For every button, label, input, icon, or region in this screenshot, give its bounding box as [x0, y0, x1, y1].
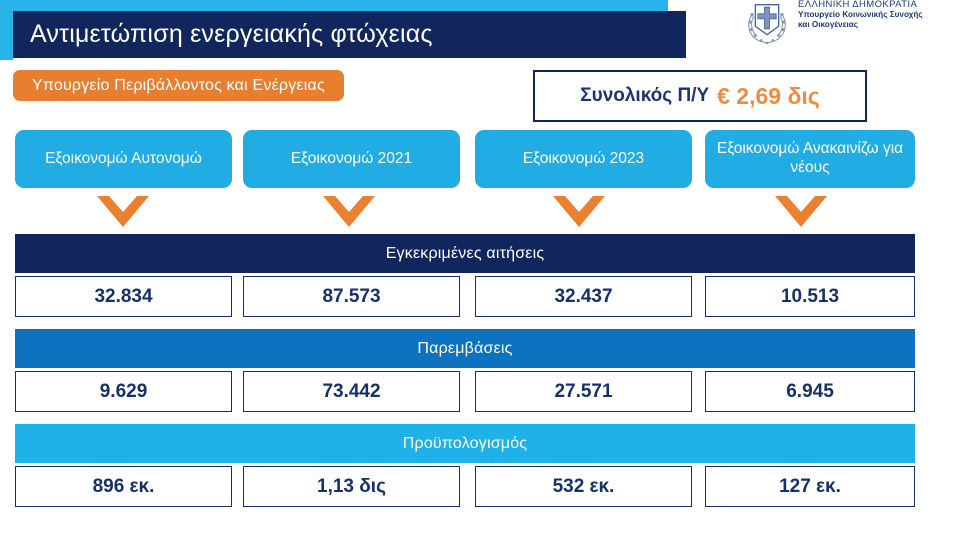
section-budget: Προϋπολογισμός 896 εκ. 1,13 δις 532 εκ. …	[15, 424, 915, 507]
value-text: 87.573	[322, 286, 380, 308]
chevron-down-icon	[97, 196, 149, 227]
section-values-row: 9.629 73.442 27.571 6.945	[15, 371, 915, 412]
section-values-row: 32.834 87.573 32.437 10.513	[15, 276, 915, 317]
section-header-bar: Προϋπολογισμός	[15, 424, 915, 463]
greek-coat-of-arms-icon	[742, 0, 792, 48]
value-text: 9.629	[100, 381, 148, 403]
section-header-label: Εγκεκριμένες αιτήσεις	[386, 245, 545, 263]
program-box-1[interactable]: Εξοικονομώ 2021	[243, 130, 460, 188]
value-cell: 32.437	[475, 276, 692, 317]
section-header-bar: Παρεμβάσεις	[15, 329, 915, 368]
value-cell: 32.834	[15, 276, 232, 317]
program-box-2[interactable]: Εξοικονομώ 2023	[475, 130, 692, 188]
section-values-row: 896 εκ. 1,13 δις 532 εκ. 127 εκ.	[15, 466, 915, 507]
chevron-down-icon	[775, 196, 827, 227]
value-cell: 532 εκ.	[475, 466, 692, 507]
value-cell: 27.571	[475, 371, 692, 412]
section-interventions: Παρεμβάσεις 9.629 73.442 27.571 6.945	[15, 329, 915, 412]
value-cell: 87.573	[243, 276, 460, 317]
chevron-down-icon	[323, 196, 375, 227]
value-text: 27.571	[554, 381, 612, 403]
logo-ministry-line-1: Υπουργείο Κοινωνικής Συνοχής	[798, 10, 923, 20]
program-box-3[interactable]: Εξοικονομώ Ανακαινίζω για νέους	[705, 130, 915, 188]
value-text: 32.437	[554, 286, 612, 308]
value-text: 896 εκ.	[93, 476, 155, 498]
left-cyan-band	[0, 0, 13, 60]
section-header-label: Παρεμβάσεις	[417, 340, 512, 358]
value-text: 1,13 δις	[317, 476, 386, 498]
value-cell: 10.513	[705, 276, 915, 317]
value-text: 532 εκ.	[553, 476, 615, 498]
value-text: 73.442	[322, 381, 380, 403]
program-label-3: Εξοικονομώ Ανακαινίζω για νέους	[705, 140, 915, 178]
program-box-0[interactable]: Εξοικονομώ Αυτονομώ	[15, 130, 232, 188]
title-bar: Αντιμετώπιση ενεργειακής φτώχειας	[13, 11, 686, 58]
value-cell: 6.945	[705, 371, 915, 412]
program-label-0: Εξοικονομώ Αυτονομώ	[37, 150, 210, 169]
value-cell: 9.629	[15, 371, 232, 412]
page-title: Αντιμετώπιση ενεργειακής φτώχειας	[13, 20, 433, 49]
value-cell: 896 εκ.	[15, 466, 232, 507]
ministry-badge-label: Υπουργείο Περιβάλλοντος και Ενέργειας	[32, 77, 325, 95]
program-label-2: Εξοικονομώ 2023	[515, 150, 652, 169]
program-label-1: Εξοικονομώ 2021	[283, 150, 420, 169]
value-cell: 1,13 δις	[243, 466, 460, 507]
value-text: 10.513	[781, 286, 839, 308]
total-budget-value: € 2,69 δις	[709, 83, 820, 110]
section-header-label: Προϋπολογισμός	[403, 435, 527, 453]
ministry-badge: Υπουργείο Περιβάλλοντος και Ενέργειας	[13, 70, 344, 101]
total-budget-label: Συνολικός Π/Υ	[580, 85, 709, 107]
value-cell: 73.442	[243, 371, 460, 412]
ministry-logo: ΕΛΛΗΝΙΚΗ ΔΗΜΟΚΡΑΤΙΑ Υπουργείο Κοινωνικής…	[742, 0, 956, 50]
section-approved-applications: Εγκεκριμένες αιτήσεις 32.834 87.573 32.4…	[15, 234, 915, 317]
program-boxes-row: Εξοικονομώ Αυτονομώ Εξοικονομώ 2021 Εξοι…	[15, 130, 915, 188]
value-text: 32.834	[94, 286, 152, 308]
chevron-down-icon	[553, 196, 605, 227]
logo-country-line: ΕΛΛΗΝΙΚΗ ΔΗΜΟΚΡΑΤΙΑ	[798, 0, 923, 10]
value-text: 127 εκ.	[779, 476, 841, 498]
arrows-row	[15, 196, 915, 230]
slide-canvas: Αντιμετώπιση ενεργειακής φτώχειας ΕΛΛ	[0, 0, 960, 535]
value-text: 6.945	[786, 381, 834, 403]
logo-ministry-line-2: και Οικογένειας	[798, 20, 923, 30]
value-cell: 127 εκ.	[705, 466, 915, 507]
section-header-bar: Εγκεκριμένες αιτήσεις	[15, 234, 915, 273]
total-budget-box: Συνολικός Π/Υ € 2,69 δις	[533, 70, 867, 122]
